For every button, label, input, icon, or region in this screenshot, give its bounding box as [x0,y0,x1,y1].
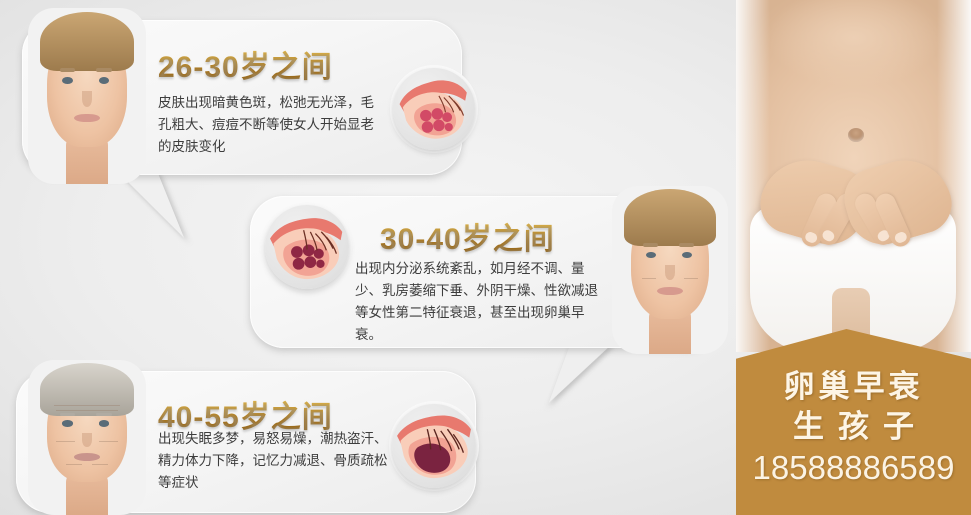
banner-headline-line1: 卵巢早衰 [736,361,971,406]
banner-headline-line2: 生孩子 [736,401,971,446]
promo-banner[interactable]: 卵巢早衰 生孩子 18588886589 [736,329,971,515]
panel-body-40-55: 出现失眠多梦，易怒易燥，潮热盗汗、精力体力下降，记忆力减退、骨质疏松等症状 [158,428,393,494]
panel-body-30-40: 出现内分泌系统紊乱，如月经不调、量少、乳房萎缩下垂、外阴干燥、性欲减退等女性第二… [355,258,600,346]
portrait-middle-aged-woman [612,186,728,354]
panel-body-26-30: 皮肤出现暗黄色斑，松弛无光泽，毛孔粗大、痘痘不断等使女人开始显老的皮肤变化 [158,92,386,158]
panel-title-30-40: 30-40岁之间 [380,214,555,258]
banner-phone-number[interactable]: 18588886589 [736,449,971,487]
portrait-young-woman [28,8,146,184]
ovary-illustration-declining-icon [265,205,349,289]
infographic-root: 26-30岁之间 皮肤出现暗黄色斑，松弛无光泽，毛孔粗大、痘痘不断等使女人开始显… [0,0,971,515]
portrait-elderly-woman [28,360,146,515]
ovary-illustration-aged-icon [392,404,476,488]
ovary-illustration-healthy-icon [393,68,475,150]
woman-abdomen-photo [736,0,971,352]
speech-bubble-tail-2 [549,341,616,403]
panel-title-26-30: 26-30岁之间 [158,42,333,86]
